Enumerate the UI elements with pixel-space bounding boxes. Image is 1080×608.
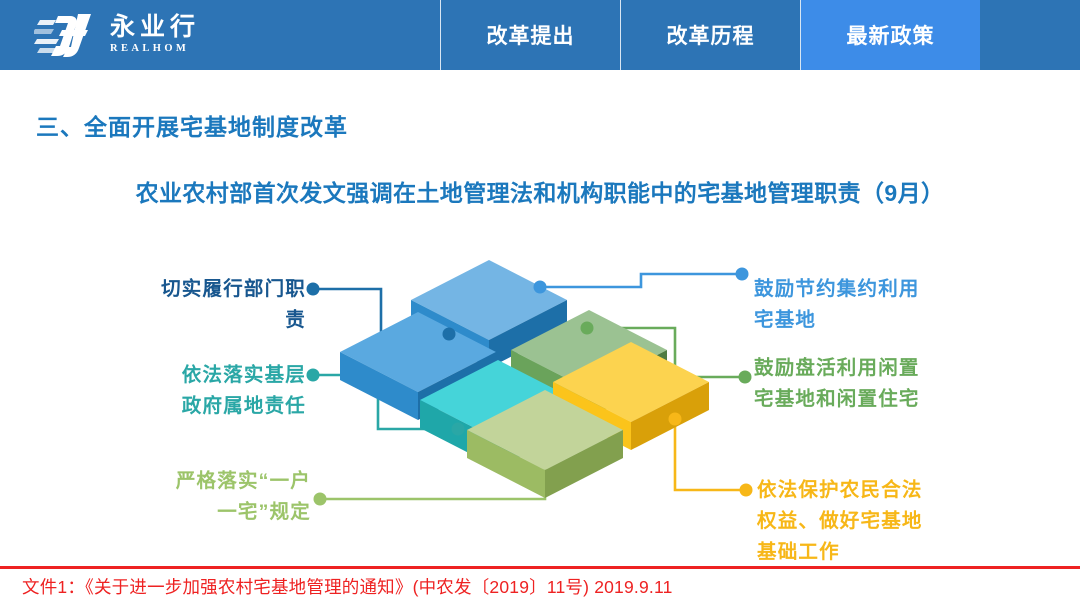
section-title: 三、全面开展宅基地制度改革 [36, 108, 348, 142]
dot-protect-block [669, 413, 682, 426]
dot-revitalize-label [739, 371, 752, 384]
dot-intensive-label [736, 268, 749, 281]
connector-intensive [543, 274, 739, 287]
label-protect: 依法保护农民合法 权益、做好宅基地 基础工作 [757, 475, 1037, 568]
tab-reform-history[interactable]: 改革历程 [620, 0, 800, 70]
dot-duty-label [307, 283, 320, 296]
dot-revitalize-block [581, 322, 594, 335]
nav-tabs: 改革提出 改革历程 最新政策 [440, 0, 980, 70]
label-revitalize: 鼓励盘活利用闲置 宅基地和闲置住宅 [754, 353, 1034, 415]
footer-divider [0, 566, 1080, 569]
dot-grassroot-label [307, 369, 320, 382]
label-duty: 切实履行部门职 责 [96, 274, 306, 336]
label-onehouse: 严格落实“一户 一宅”规定 [86, 466, 311, 528]
connector-protect [675, 422, 743, 490]
dot-onehouse-label [314, 493, 327, 506]
dot-intensive-block [534, 281, 547, 294]
footer-reference: 文件1：《关于进一步加强农村宅基地管理的通知》(中农发〔2019〕11号) 20… [22, 574, 673, 599]
label-grassroot: 依法落实基层 政府属地责任 [96, 360, 306, 422]
brand-wordmark: 永业行 REALHOM [110, 15, 200, 56]
header-bar: 永业行 REALHOM 改革提出 改革历程 最新政策 [0, 0, 1080, 70]
slide-root: 永业行 REALHOM 改革提出 改革历程 最新政策 三、全面开展宅基地制度改革… [0, 0, 1080, 608]
dot-protect-label [740, 484, 753, 497]
brand-name-cn: 永业行 [110, 15, 200, 41]
tab-reform-proposal[interactable]: 改革提出 [440, 0, 620, 70]
dot-grassroot-block [452, 423, 465, 436]
tab-latest-policy[interactable]: 最新政策 [800, 0, 980, 70]
brand-logo: 永业行 REALHOM [0, 0, 440, 70]
dot-duty-block [443, 328, 456, 341]
page-subtitle: 农业农村部首次发文强调在土地管理法和机构职能中的宅基地管理职责（9月） [0, 174, 1080, 208]
label-intensive: 鼓励节约集约利用 宅基地 [754, 274, 1024, 336]
brand-name-en: REALHOM [110, 43, 200, 56]
realhom-logo-icon [34, 12, 100, 58]
